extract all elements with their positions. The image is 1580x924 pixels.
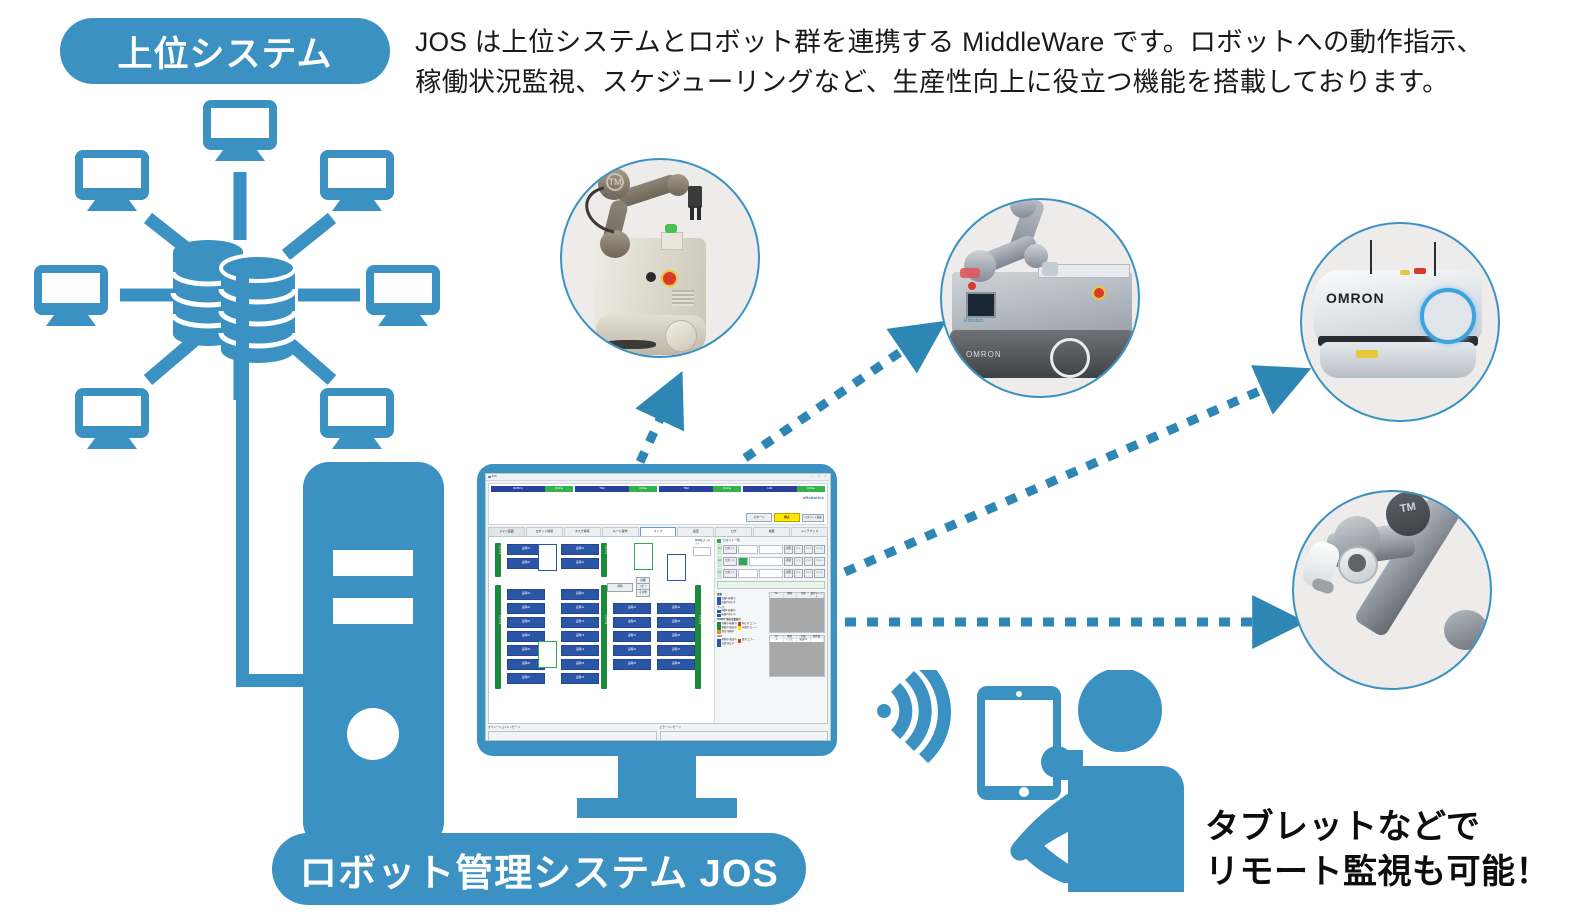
status-state: Online [545, 486, 573, 492]
monitor-neck [618, 752, 696, 804]
ld-lower-body [1320, 342, 1476, 378]
zone-label-4: エリア4 [495, 545, 501, 554]
table-body [770, 598, 824, 632]
legend-label: 充電:停止中 [722, 643, 735, 646]
facility-cell[interactable]: 設備38 [657, 659, 695, 670]
legend-label: 異常:エラー [742, 639, 755, 642]
table-row[interactable]: 1 レシピ 搬送01 [770, 639, 824, 642]
legend-swatch [717, 601, 721, 605]
progress-field [717, 581, 825, 589]
facility-cell[interactable]: 設備10 [561, 544, 599, 555]
robot-marker-active[interactable] [538, 641, 557, 668]
hmi-screen [966, 292, 996, 318]
robot-photo-2: OMRON Robotics [942, 200, 1138, 396]
robot-detail-button[interactable]: 詳細 [784, 569, 793, 578]
status-item: TM2 Online [659, 486, 741, 492]
robot-marker-active[interactable] [634, 543, 653, 570]
legend-swatch [717, 630, 721, 634]
legend-swatch [717, 610, 721, 614]
table-header-cell: 動作テーブル [811, 593, 825, 598]
legend-and-tables: 設備 設備1:稼働中 設備2:停止中 ブース [717, 592, 825, 679]
status-row: ROBO1 Online TM1 Online TM2 Online LD1 O… [491, 486, 825, 492]
legend-item: 設備2:停止中 [717, 601, 767, 605]
zone-bar [695, 585, 701, 689]
map-reset-label: MAP拡大リセット [695, 540, 711, 546]
window-controls[interactable]: － □ × [811, 476, 828, 479]
table-cell: レシピ [784, 639, 798, 642]
table-body [770, 642, 824, 676]
facility-cell[interactable]: 設備22 [613, 617, 651, 628]
facility-cell[interactable]: 設備02 [507, 603, 545, 614]
omron-logo: OMRON [1326, 290, 1385, 306]
status-name: LD1 [743, 486, 797, 492]
tab-main[interactable]: メイン画面 [488, 527, 525, 536]
status-name: TM1 [575, 486, 629, 492]
table-header-row: No 種別 状態 動作テーブル [770, 593, 824, 598]
server-tower-icon [303, 462, 444, 848]
person-torso-icon [1068, 766, 1184, 892]
emergency-stop-button [1092, 286, 1106, 300]
robot-row: TM2 ロボット 詳細 Skip Hold Reset [717, 556, 825, 567]
status-item: TM1 Online [575, 486, 657, 492]
stop-button[interactable]: 停止 [774, 513, 800, 522]
status-item: LD1 Online [743, 486, 825, 492]
legend-swatch [738, 639, 742, 643]
robot-button[interactable]: ロボット [723, 545, 737, 554]
legend-swatch [717, 597, 721, 601]
badge-robot-management-system: ロボット管理システム JOS [272, 833, 806, 905]
ld-antenna [1370, 240, 1372, 274]
robot-skip-button[interactable]: Skip [794, 569, 803, 578]
operation-log: オペレーションメッセージ [488, 727, 657, 741]
robot-photo-1: TM [562, 160, 758, 356]
tab-maintenance[interactable]: メンテナンス [791, 527, 828, 536]
arm-cable [562, 160, 758, 356]
robot-status-indicator [738, 557, 748, 566]
app-content: MAP拡大リセット エリア4 エリア3 エリア4 エリア2 エリア1 設備01 [488, 536, 828, 724]
badge-upper-system-label: 上位システム [118, 26, 333, 77]
facility-map-pane[interactable]: MAP拡大リセット エリア4 エリア3 エリア4 エリア2 エリア1 設備01 [489, 537, 714, 723]
status-name: ROBO1 [491, 486, 545, 492]
robot-list-header-label: ロボット一覧 [723, 539, 740, 542]
error-log-label: エラーメッセージ [660, 727, 829, 730]
wifi-wave-icon [891, 683, 912, 739]
tab-map[interactable]: マップ [640, 527, 677, 536]
intro-line-2: 稼働状況監視、スケジューリングなど、生産性向上に役立つ機能を搭載しております。 [415, 62, 1445, 102]
robot-photo-3: OMRON [1302, 224, 1498, 420]
robot-tag: TM1 [717, 544, 722, 555]
password-change-button[interactable]: パスワード変更 [802, 514, 824, 522]
facility-cell[interactable]: 設備14 [561, 645, 599, 656]
robot-field[interactable] [738, 569, 758, 578]
ld-indicator [1400, 270, 1410, 275]
robot-circle-mobile-manipulator: TM [560, 158, 760, 358]
facility-cell[interactable]: 設備10 [561, 589, 599, 600]
robot-circle-omron-ld: OMRON [1300, 222, 1500, 422]
facility-cell[interactable]: 設備35 [657, 617, 695, 628]
error-log-box[interactable] [660, 731, 829, 741]
tablet-screen [985, 700, 1053, 786]
table-cell: 1 [770, 639, 784, 642]
legend-swatch [738, 622, 742, 626]
tower-power-button [347, 708, 399, 760]
app-icon [488, 476, 491, 479]
facility-cell[interactable]: 設備16 [561, 673, 599, 684]
facility-cell[interactable]: 設備34 [657, 603, 695, 614]
monitor-base [577, 798, 737, 818]
tab-log[interactable]: ログ [715, 527, 752, 536]
legend-swatch [717, 643, 721, 647]
jos-application-window[interactable]: JOS － □ × ROBO1 Online TM1 Online TM2 [485, 473, 831, 741]
tablet-home-button [1019, 787, 1029, 797]
tower-slot [333, 550, 413, 576]
app-window-title: JOS [492, 476, 497, 479]
zone-label-3: エリア3 [495, 615, 501, 624]
legend-label: 設備1:稼働中 [722, 598, 736, 601]
facility-cell[interactable]: 設備24 [613, 645, 651, 656]
robot-skip-button[interactable]: Skip [794, 557, 803, 566]
table-cell [811, 639, 825, 642]
arm-light [960, 268, 980, 278]
legend-swatch [717, 639, 721, 643]
tool-flange [1348, 554, 1366, 572]
facility-cell[interactable]: 設備37 [657, 645, 695, 656]
robot-photo-4: TM [1294, 492, 1490, 688]
robot-field[interactable] [759, 545, 782, 554]
map-legend: 設備 設備1:稼働中 設備2:停止中 ブース [717, 592, 767, 679]
table-header-cell: 状態 [797, 593, 811, 598]
delete-button[interactable]: 削除 [607, 583, 633, 592]
error-log: エラーメッセージ [660, 727, 829, 741]
table-cell: 搬送01 [797, 639, 811, 642]
arm-gripper [1042, 262, 1058, 276]
tab-robot-info[interactable]: ロボット情報 [526, 527, 563, 536]
robot-skip-button[interactable]: Skip [794, 545, 803, 554]
robot-reset-button[interactable]: Reset [814, 545, 825, 554]
legend-item: 稼働2:停止中 [717, 614, 767, 618]
ld-front-panel [1356, 350, 1378, 358]
legend-item: 異常:待機中 [717, 630, 767, 634]
legend-swatch [717, 622, 721, 626]
zone-label-4b: エリア4 [601, 545, 607, 554]
status-state: Online [629, 486, 657, 492]
robot-circle-collaborative-arm: TM [1292, 490, 1492, 690]
zone-label-2: エリア2 [601, 615, 607, 624]
remote-caption-line-2: リモート監視も可能！ [1205, 850, 1575, 895]
facility-cell[interactable]: 設備15 [561, 659, 599, 670]
arrow-to-robot-1 [640, 402, 668, 462]
robot-hold-button[interactable]: Hold [804, 569, 813, 578]
robot-tag: TM2 [717, 556, 722, 567]
robot-field[interactable] [749, 557, 782, 566]
log-panels: オペレーションメッセージ エラーメッセージ [488, 727, 828, 741]
app-top-buttons: スタート 停止 パスワード変更 [746, 513, 824, 522]
person-thumb-icon [1055, 750, 1083, 780]
tab-history[interactable]: 履歴 [753, 527, 790, 536]
person-head-icon [1078, 670, 1162, 752]
robot-button[interactable]: ロボット [723, 569, 737, 578]
remote-monitoring-caption: タブレットなどで リモート監視も可能！ [1205, 805, 1575, 895]
other-button[interactable]: その他 [636, 589, 650, 597]
robotics-logo: Robotics [964, 318, 983, 324]
legend-label: 稼働2:停止中 [722, 614, 736, 617]
badge-upper-system: 上位システム [60, 18, 390, 84]
robot-circle-mobile-workcell: OMRON Robotics [940, 198, 1140, 398]
omron-logo: OMRON [966, 350, 1002, 359]
zone-bar [495, 585, 501, 689]
robot-control-pane: ロボット一覧 TM1 ロボット 詳細 Skip Hold Reset TM2 [714, 537, 827, 723]
status-square-icon [717, 539, 721, 543]
recipe-table[interactable]: No 種別 状態 動作数 1 レシピ 搬送01 [769, 635, 825, 676]
emergency-stop-button [1414, 268, 1426, 274]
robot-row: LD1 ロボット 詳細 Skip Hold Reset [717, 568, 825, 579]
operator-with-tablet [865, 670, 1185, 910]
intro-paragraph: JOS は上位システムとロボット群を連携する MiddleWare です。ロボッ… [415, 22, 1445, 102]
ld-status-ring [1420, 288, 1476, 344]
zone-bar [601, 585, 607, 689]
robot-field[interactable] [738, 545, 758, 554]
operation-log-label: オペレーションメッセージ [488, 727, 657, 730]
robot-button[interactable]: ロボット [723, 557, 737, 566]
map-reset-field[interactable] [693, 547, 711, 556]
legend-swatch [738, 626, 742, 630]
facility-cell[interactable]: 設備13 [561, 631, 599, 642]
table-header-cell: No [770, 593, 784, 598]
emergency-stop-button [968, 282, 976, 290]
facility-cell[interactable]: 設備23 [613, 631, 651, 642]
facility-cell[interactable]: 設備11 [561, 603, 599, 614]
robot-hold-button[interactable]: Hold [804, 545, 813, 554]
zone-label-1: エリア1 [695, 615, 701, 624]
arrow-to-robot-2 [745, 340, 918, 458]
facility-cell[interactable]: 設備12 [561, 617, 599, 628]
tablet-camera [1016, 691, 1022, 697]
start-button[interactable]: スタート [746, 513, 772, 522]
facility-cell[interactable]: 設備21 [613, 603, 651, 614]
arrow-to-robot-3 [845, 382, 1280, 572]
facility-cell[interactable]: 設備07 [507, 673, 545, 684]
remote-caption-line-1: タブレットなどで [1205, 805, 1575, 850]
tower-slot [333, 598, 413, 624]
robot-status-bar: ROBO1 Online TM1 Online TM2 Online LD1 O… [488, 483, 828, 525]
robot-reset-button[interactable]: Reset [814, 569, 825, 578]
facility-cell[interactable]: 設備25 [613, 659, 651, 670]
legend-swatch [717, 626, 721, 630]
intro-line-1: JOS は上位システムとロボット群を連携する MiddleWare です。ロボッ… [415, 22, 1445, 62]
operation-log-box[interactable] [488, 731, 657, 741]
jos-monitor: JOS － □ × ROBO1 Online TM1 Online TM2 [477, 464, 837, 764]
robot-row: TM1 ロボット 詳細 Skip Hold Reset [717, 544, 825, 555]
data-tables: No 種別 状態 動作テーブル No 種別 [769, 592, 825, 679]
robot-field[interactable] [759, 569, 782, 578]
robot-marker[interactable] [667, 554, 686, 581]
app-titlebar: JOS － □ × [486, 474, 830, 481]
legend-label: 設備2:停止中 [722, 602, 736, 605]
amr-status-ring [1050, 338, 1090, 378]
legend-label: 充電中:ローー [742, 627, 757, 630]
app-tabs: メイン画面 ロボット情報 タスク情報 ルート操作 マップ 設定 ログ 履歴 メン… [488, 527, 828, 536]
facility-cell[interactable]: 設備01 [507, 589, 545, 600]
robot-hold-button[interactable]: Hold [804, 557, 813, 566]
arm-shoulder-joint [1444, 610, 1488, 650]
status-state: Online [797, 486, 825, 492]
robot-detail-button[interactable]: 詳細 [784, 557, 793, 566]
brand-text: Robotics [805, 495, 824, 500]
robot-marker[interactable] [538, 544, 557, 571]
tab-task-info[interactable]: タスク情報 [564, 527, 601, 536]
ld-antenna [1434, 242, 1436, 276]
app-brand-logo: oRobotics [803, 496, 824, 500]
task-table[interactable]: No 種別 状態 動作テーブル [769, 592, 825, 633]
robot-reset-button[interactable]: Reset [814, 557, 825, 566]
table-header-cell: 種別 [784, 593, 798, 598]
legend-label: 異常:待機中 [722, 631, 735, 634]
wifi-dot-icon [877, 704, 891, 718]
tab-route-operation[interactable]: ルート操作 [602, 527, 639, 536]
robot-tag: LD1 [717, 568, 722, 579]
robot-detail-button[interactable]: 詳細 [784, 545, 793, 554]
facility-cell[interactable]: 設備36 [657, 631, 695, 642]
legend-item: 充電:停止中 [717, 643, 767, 647]
status-state: Online [713, 486, 741, 492]
status-name: TM2 [659, 486, 713, 492]
legend-swatch [717, 614, 721, 618]
robot-list-header: ロボット一覧 [717, 539, 825, 543]
badge-robot-management-system-label: ロボット管理システム JOS [299, 842, 778, 897]
facility-cell[interactable]: 設備03 [507, 617, 545, 628]
facility-cell[interactable]: 設備11 [561, 558, 599, 569]
status-item: ROBO1 Online [491, 486, 573, 492]
tab-settings[interactable]: 設定 [677, 527, 714, 536]
